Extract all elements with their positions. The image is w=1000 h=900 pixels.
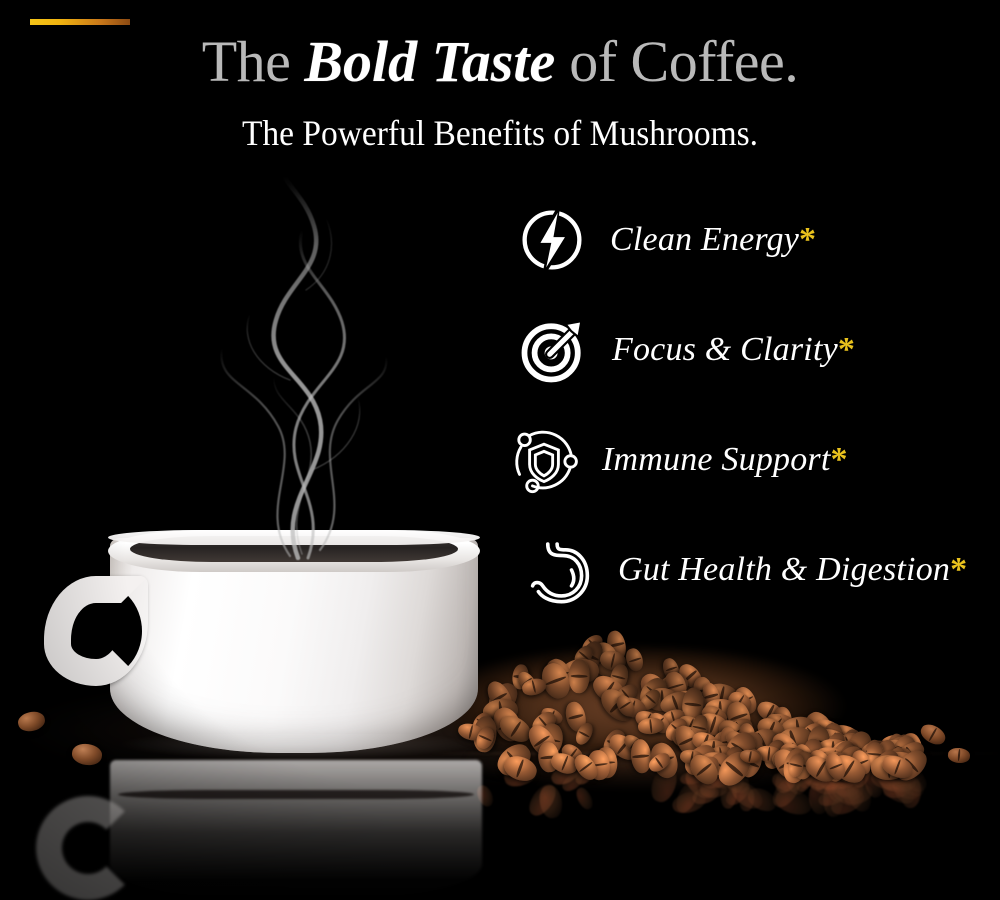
asterisk: *: [838, 331, 855, 368]
shield-network-icon: [508, 424, 580, 496]
lightning-bolt-circle-icon: [516, 204, 588, 276]
asterisk: *: [799, 221, 816, 258]
benefit-label: Gut Health & Digestion*: [618, 551, 967, 589]
banner-stage: The Bold Taste of Coffee. The Powerful B…: [0, 0, 1000, 900]
page-title: The Bold Taste of Coffee.: [0, 32, 1000, 91]
target-arrow-icon: [518, 314, 590, 386]
stomach-icon: [524, 534, 596, 606]
accent-bar: [30, 19, 130, 25]
benefit-item-focus-clarity: Focus & Clarity*: [0, 295, 1000, 405]
page-subtitle: The Powerful Benefits of Mushrooms.: [35, 112, 965, 154]
benefit-item-clean-energy: Clean Energy*: [0, 185, 1000, 295]
benefit-label: Focus & Clarity*: [612, 331, 855, 369]
coffee-bean: [568, 659, 589, 693]
benefit-item-gut-health: Gut Health & Digestion*: [0, 515, 1000, 625]
benefits-list: Clean Energy* Focus & Clarity*: [0, 185, 1000, 625]
benefit-label: Immune Support*: [602, 441, 848, 479]
benefit-label: Clean Energy*: [610, 221, 816, 259]
headline-part-1: The: [202, 29, 305, 94]
asterisk: *: [950, 551, 967, 588]
benefit-item-immune-support: Immune Support*: [0, 405, 1000, 515]
headline-emphasis: Bold Taste: [304, 29, 555, 94]
asterisk: *: [831, 441, 848, 478]
headline-part-2: of Coffee.: [555, 29, 798, 94]
